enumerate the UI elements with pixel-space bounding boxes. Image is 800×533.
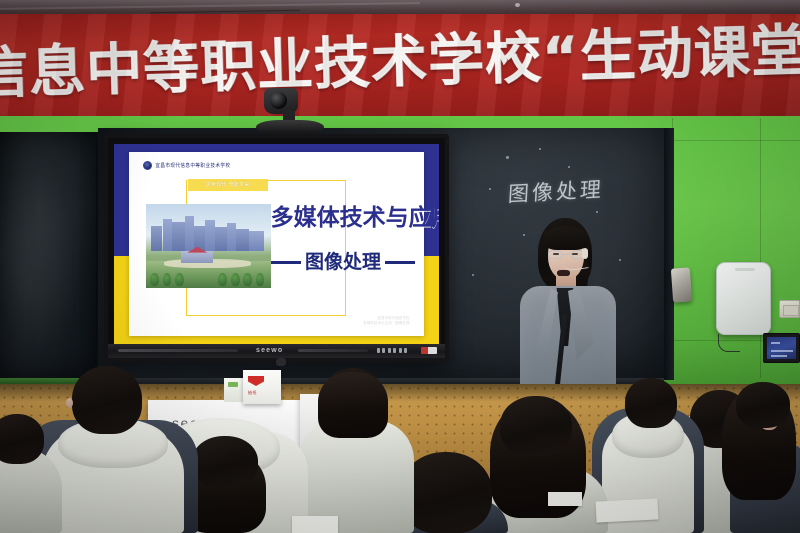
slide-slogan-tag: 求索现代 修能未来 bbox=[188, 179, 268, 191]
interactive-flat-panel[interactable]: 宜昌市现代信息中等职业技术学校 求索现代 修能未来 bbox=[104, 134, 449, 362]
camera-lens-icon bbox=[270, 92, 287, 109]
control-panel-screen[interactable] bbox=[767, 337, 796, 359]
display-button-home[interactable] bbox=[404, 348, 407, 353]
display-bottom-bezel: seewo bbox=[108, 344, 445, 358]
wall-speaker bbox=[671, 267, 692, 302]
blackboard-left bbox=[0, 132, 98, 380]
school-logo-text: 宜昌市现代信息中等职业技术学校 bbox=[155, 162, 230, 169]
wall-seam-2 bbox=[760, 118, 761, 378]
ceiling-light-dot bbox=[515, 3, 520, 7]
slide-decor-frame-top-right bbox=[268, 180, 346, 182]
chalkboard-handwriting: 图像处理 bbox=[507, 173, 604, 208]
light-switch[interactable] bbox=[779, 300, 800, 318]
desk-paper-3 bbox=[548, 492, 582, 506]
slide-rule-right bbox=[385, 261, 415, 264]
desk-paper-2 bbox=[595, 498, 658, 522]
school-logo: 宜昌市现代信息中等职业技术学校 bbox=[143, 161, 230, 170]
display-button-power[interactable] bbox=[377, 348, 380, 353]
tissue-box-red bbox=[243, 370, 281, 404]
slide-title: 多媒体技术与应用 bbox=[271, 207, 419, 230]
teacher-fringe bbox=[544, 226, 588, 250]
campus-photo bbox=[146, 204, 270, 289]
touch-control-panel[interactable] bbox=[763, 333, 800, 363]
panel-power-cord bbox=[718, 334, 740, 352]
event-banner: 信息中等职业技术学校“生动课堂”教学大 bbox=[0, 14, 800, 122]
display-button-row[interactable] bbox=[377, 348, 408, 353]
ceiling-seam-secondary bbox=[150, 10, 300, 14]
ceiling-seam bbox=[0, 2, 420, 10]
school-crest-icon bbox=[143, 161, 152, 170]
display-vendor-badge bbox=[421, 347, 437, 354]
glasses-lens-left bbox=[548, 250, 562, 259]
desk-paper-1 bbox=[292, 516, 338, 533]
display-ir-sensor bbox=[276, 358, 286, 366]
slide-rule-left bbox=[271, 261, 301, 264]
display-button-vol-up[interactable] bbox=[399, 348, 402, 353]
slide-content-card: 宜昌市现代信息中等职业技术学校 求索现代 修能未来 bbox=[129, 152, 425, 336]
glasses-bridge bbox=[562, 254, 571, 255]
slide-slogan-text: 求索现代 修能未来 bbox=[206, 181, 250, 188]
slide-watermark: 宜昌市现代信息学校 多媒体技术与应用 · 图像处理 bbox=[363, 316, 410, 327]
tissue-box-label: 抽纸 bbox=[248, 390, 257, 396]
display-button-menu[interactable] bbox=[388, 348, 391, 353]
bezel-speaker-grille-right bbox=[298, 349, 368, 352]
display-button-source[interactable] bbox=[382, 348, 385, 353]
bezel-speaker-grille-left bbox=[118, 349, 238, 352]
air-purifier-panel[interactable] bbox=[716, 262, 771, 335]
classroom-photo: 信息中等职业技术学校“生动课堂”教学大 图像处理 bbox=[0, 0, 800, 533]
banner-text: 信息中等职业技术学校“生动课堂”教学大 bbox=[0, 16, 800, 110]
display-screen[interactable]: 宜昌市现代信息中等职业技术学校 求索现代 修能未来 bbox=[114, 144, 439, 344]
headset-earpiece bbox=[582, 248, 588, 259]
display-button-vol-down[interactable] bbox=[393, 348, 396, 353]
presentation-slide: 宜昌市现代信息中等职业技术学校 求索现代 修能未来 bbox=[114, 144, 439, 344]
slide-subtitle: 图像处理 bbox=[305, 253, 381, 272]
display-brand-label: seewo bbox=[256, 347, 283, 354]
slide-watermark-line2: 多媒体技术与应用 · 图像处理 bbox=[363, 321, 410, 326]
slide-subtitle-row: 图像处理 bbox=[262, 253, 425, 272]
blackboard-right-edge bbox=[664, 128, 674, 380]
